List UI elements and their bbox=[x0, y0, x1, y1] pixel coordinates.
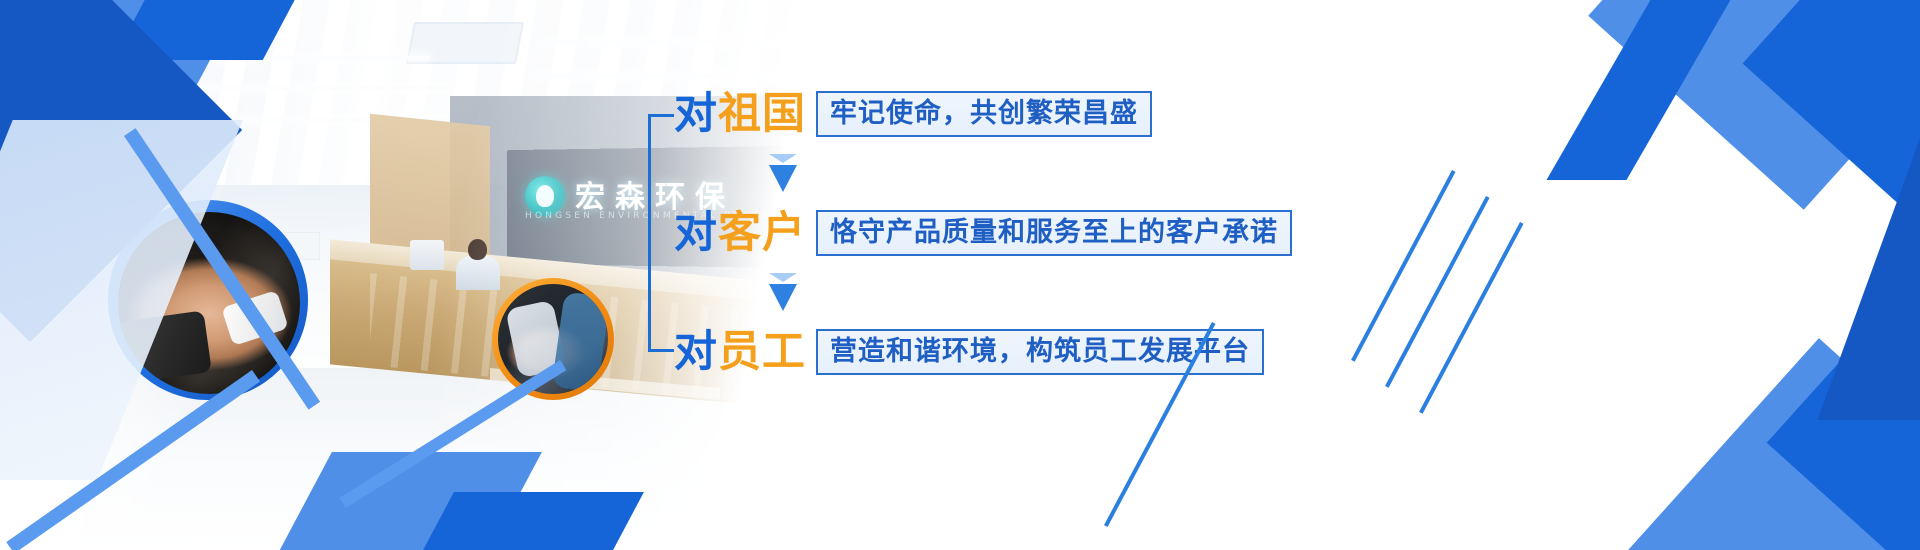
value-row-country: 对祖国 牢记使命，共创繁荣昌盛 bbox=[674, 88, 1152, 140]
bracket-connector bbox=[648, 114, 674, 352]
value-row-customer: 对客户 恪守产品质量和服务至上的客户承诺 bbox=[674, 207, 1292, 259]
lead-prefix: 对 bbox=[674, 327, 718, 377]
decor-thin-line-1 bbox=[1351, 170, 1455, 362]
monitor-icon bbox=[410, 240, 444, 270]
value-lead-employee: 对员工 bbox=[674, 331, 806, 374]
receptionist-head bbox=[468, 239, 487, 260]
value-lead-country: 对祖国 bbox=[674, 93, 806, 136]
down-arrow-icon bbox=[766, 273, 800, 315]
arrow-bottom-part bbox=[769, 284, 797, 311]
lead-prefix: 对 bbox=[674, 89, 718, 139]
value-row-employee: 对员工 营造和谐环境，构筑员工发展平台 bbox=[674, 326, 1264, 378]
decor-thin-line-3 bbox=[1419, 222, 1523, 414]
lead-subject: 客户 bbox=[718, 208, 806, 258]
receptionist-body bbox=[456, 256, 500, 290]
arrow-bottom-part bbox=[769, 165, 797, 192]
down-arrow-icon bbox=[766, 154, 800, 196]
lead-subject: 祖国 bbox=[718, 89, 806, 139]
value-statement-country: 牢记使命，共创繁荣昌盛 bbox=[816, 91, 1152, 138]
decor-thin-line-2 bbox=[1385, 196, 1489, 388]
company-logo-icon bbox=[525, 176, 565, 216]
values-list: 对祖国 牢记使命，共创繁荣昌盛 对客户 恪守产品质量和服务至上的客户承诺 对员工… bbox=[648, 78, 1348, 388]
company-culture-banner: 宏森环保 HONGSEN ENVIRONMENTAL PROTECTION bbox=[0, 0, 1920, 550]
value-lead-customer: 对客户 bbox=[674, 212, 806, 255]
lead-prefix: 对 bbox=[674, 208, 718, 258]
lead-subject: 员工 bbox=[718, 327, 806, 377]
value-statement-customer: 恪守产品质量和服务至上的客户承诺 bbox=[816, 210, 1292, 257]
ceiling-light-strip bbox=[539, 40, 791, 44]
arrow-top-part bbox=[769, 154, 797, 163]
arrow-top-part bbox=[769, 273, 797, 282]
